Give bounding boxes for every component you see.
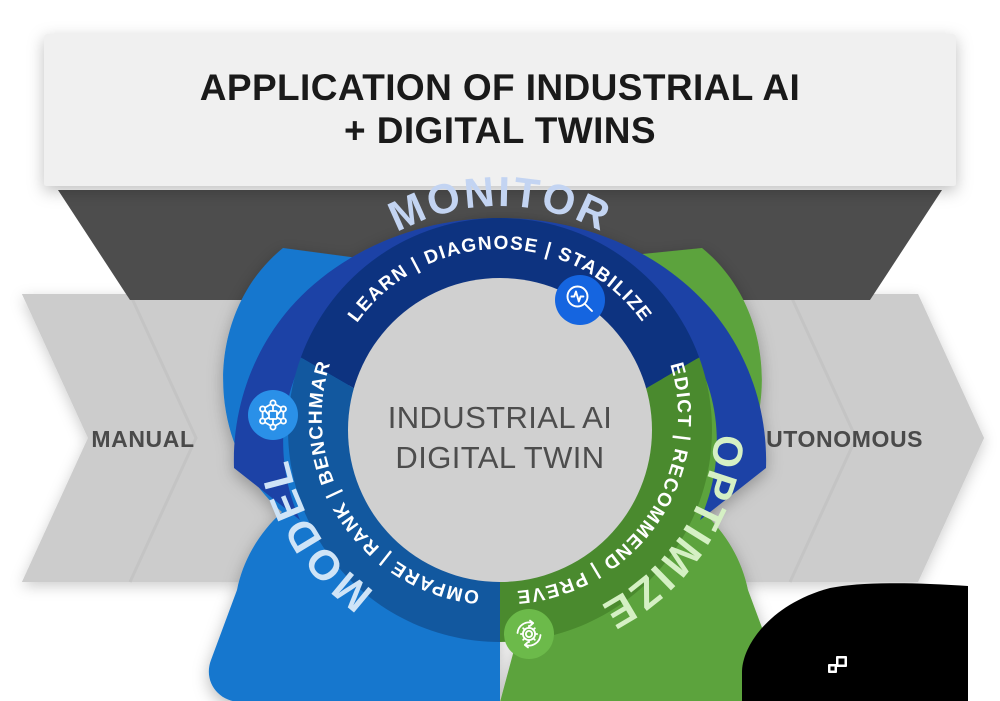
- watermark-layer: [0, 0, 1000, 701]
- watermark-blob: [742, 583, 968, 701]
- infographic-canvas: MANUAL AUTONOMOUS APPLICATION OF INDUSTR…: [0, 0, 1000, 701]
